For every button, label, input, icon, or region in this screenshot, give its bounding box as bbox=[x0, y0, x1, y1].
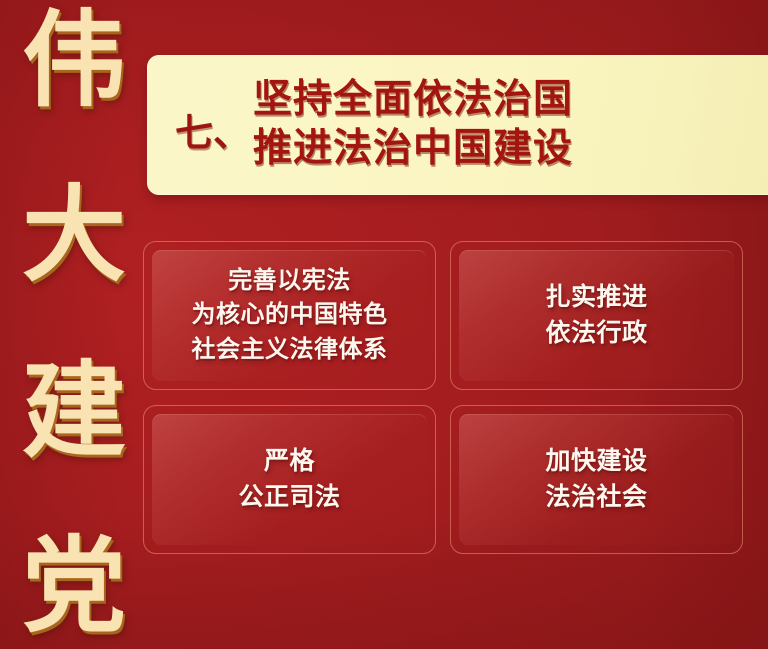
section-title-line-1: 坚持全面依法治国 bbox=[253, 76, 573, 125]
card-line: 为核心的中国特色 bbox=[192, 298, 388, 332]
card-inner-panel: 扎实推进 依法行政 bbox=[459, 250, 734, 381]
card-line: 社会主义法律体系 bbox=[192, 333, 388, 367]
section-index-label: 七、 bbox=[175, 102, 251, 157]
vertical-title-char-3: 建 bbox=[22, 361, 126, 465]
card-rule-of-law-society[interactable]: 加快建设 法治社会 bbox=[450, 405, 743, 554]
section-title-banner: 七、 坚持全面依法治国 推进法治中国建设 bbox=[147, 55, 768, 195]
card-constitution-legal-system[interactable]: 完善以宪法 为核心的中国特色 社会主义法律体系 bbox=[143, 241, 436, 390]
card-line: 加快建设 bbox=[545, 444, 647, 480]
vertical-title-char-4: 党 bbox=[22, 536, 126, 640]
key-points-grid: 完善以宪法 为核心的中国特色 社会主义法律体系 扎实推进 依法行政 严格 公正司… bbox=[143, 241, 743, 554]
card-line: 扎实推进 bbox=[545, 280, 647, 316]
card-inner-panel: 完善以宪法 为核心的中国特色 社会主义法律体系 bbox=[152, 250, 427, 381]
card-line: 依法行政 bbox=[545, 316, 647, 352]
card-administration-by-law[interactable]: 扎实推进 依法行政 bbox=[450, 241, 743, 390]
card-strict-fair-justice[interactable]: 严格 公正司法 bbox=[143, 405, 436, 554]
section-title-lines: 坚持全面依法治国 推进法治中国建设 bbox=[253, 76, 573, 174]
vertical-title-char-1: 伟 bbox=[22, 10, 126, 114]
poster-canvas: 伟 大 建 党 七、 坚持全面依法治国 推进法治中国建设 完善以宪法 为核心的中… bbox=[0, 0, 768, 649]
card-line: 公正司法 bbox=[238, 480, 340, 516]
card-line: 完善以宪法 bbox=[228, 264, 351, 298]
card-line: 严格 bbox=[264, 444, 315, 480]
vertical-title-weidajiandang: 伟 大 建 党 bbox=[16, 10, 132, 640]
section-title-line-2: 推进法治中国建设 bbox=[253, 125, 573, 174]
card-line: 法治社会 bbox=[545, 480, 647, 516]
card-inner-panel: 加快建设 法治社会 bbox=[459, 414, 734, 545]
vertical-title-char-2: 大 bbox=[22, 185, 126, 289]
card-inner-panel: 严格 公正司法 bbox=[152, 414, 427, 545]
